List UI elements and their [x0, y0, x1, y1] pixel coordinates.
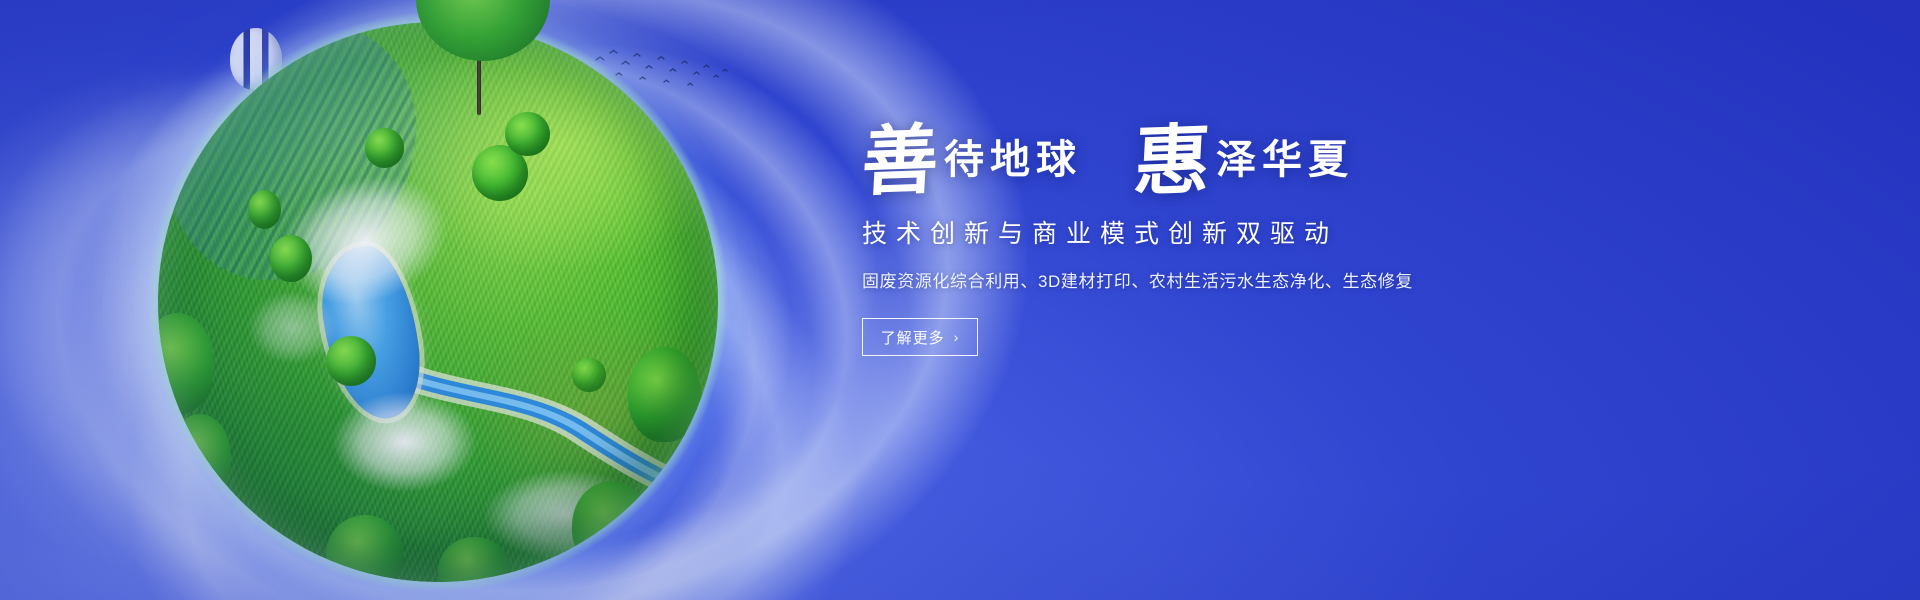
learn-more-label: 了解更多	[881, 327, 945, 348]
headline-rest-2: 泽华夏	[1216, 128, 1354, 198]
learn-more-button[interactable]: 了解更多 ›	[862, 318, 978, 356]
hero-subtitle: 技术创新与商业模式创新双驱动	[862, 214, 1622, 250]
hero-banner: 善 待地球 惠 泽华夏 技术创新与商业模式创新双驱动 固废资源化综合利用、3D建…	[0, 0, 1920, 600]
headline-rest-1: 待地球	[944, 128, 1082, 198]
chevron-right-icon: ›	[954, 329, 960, 345]
hero-description: 固废资源化综合利用、3D建材打印、农村生活污水生态净化、生态修复	[862, 267, 1622, 292]
headline-char-1: 善	[860, 127, 940, 200]
headline: 善 待地球 惠 泽华夏	[862, 128, 1622, 198]
headline-char-2: 惠	[1132, 127, 1212, 200]
hero-content: 善 待地球 惠 泽华夏 技术创新与商业模式创新双驱动 固废资源化综合利用、3D建…	[862, 128, 1622, 356]
